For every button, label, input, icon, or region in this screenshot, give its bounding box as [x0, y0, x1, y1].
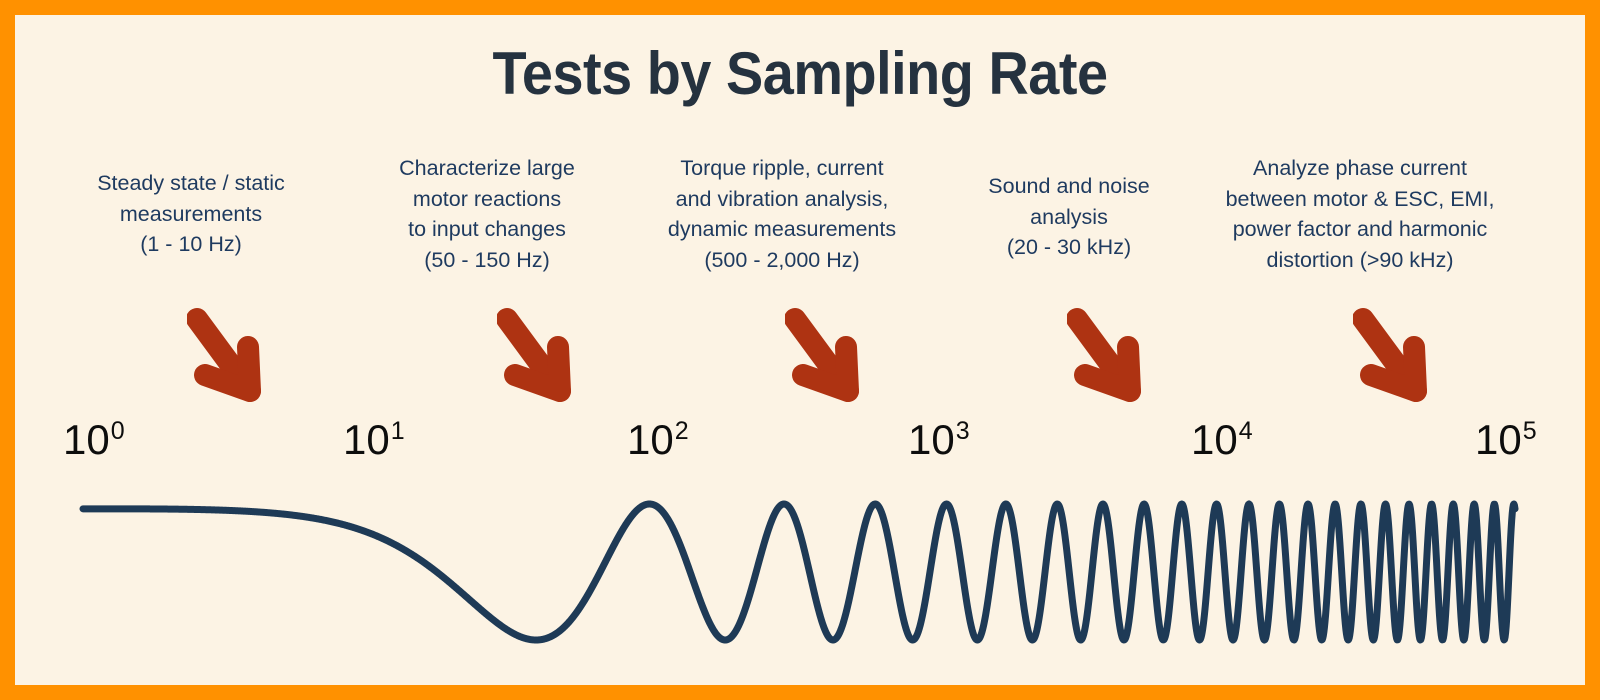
chirp-line [83, 504, 1515, 640]
caption-line: analysis [945, 202, 1193, 233]
tick-base: 10 [627, 416, 674, 463]
down-right-arrow-icon [1067, 307, 1151, 411]
down-right-arrow-icon [1353, 307, 1437, 411]
tick-base: 10 [1475, 416, 1522, 463]
caption-line: between motor & ESC, EMI, [1195, 184, 1525, 215]
annotation-caption-sound-noise: Sound and noise analysis (20 - 30 kHz) [945, 171, 1193, 263]
down-right-arrow-icon [187, 307, 271, 411]
axis-tick-10e1: 101 [343, 419, 405, 461]
tick-exponent: 5 [1523, 417, 1537, 445]
infographic-root: Tests by Sampling Rate Steady state / st… [0, 0, 1600, 700]
axis-tick-10e4: 104 [1191, 419, 1253, 461]
axis-tick-10e3: 103 [908, 419, 970, 461]
tick-exponent: 0 [111, 417, 125, 445]
axis-tick-10e5: 105 [1475, 419, 1537, 461]
annotation-caption-torque-ripple: Torque ripple, current and vibration ana… [637, 153, 927, 276]
tick-base: 10 [1191, 416, 1238, 463]
annotation-caption-phase-current: Analyze phase current between motor & ES… [1195, 153, 1525, 276]
down-right-arrow-icon [785, 307, 869, 411]
frequency-chirp-waveform [15, 470, 1585, 685]
axis-tick-10e2: 102 [627, 419, 689, 461]
caption-line: to input changes [353, 214, 621, 245]
caption-range-label: distortion (>90 kHz) [1195, 245, 1525, 276]
annotation-caption-motor-reactions: Characterize large motor reactions to in… [353, 153, 621, 276]
caption-line: Steady state / static [61, 168, 321, 199]
caption-line: Characterize large [353, 153, 621, 184]
caption-range-label: (1 - 10 Hz) [61, 229, 321, 260]
tick-base: 10 [343, 416, 390, 463]
axis-tick-10e0: 100 [63, 419, 125, 461]
caption-range-label: (500 - 2,000 Hz) [637, 245, 927, 276]
page-title: Tests by Sampling Rate [70, 39, 1530, 108]
tick-exponent: 1 [391, 417, 405, 445]
caption-line: Analyze phase current [1195, 153, 1525, 184]
caption-line: power factor and harmonic [1195, 214, 1525, 245]
caption-line: dynamic measurements [637, 214, 927, 245]
caption-line: measurements [61, 199, 321, 230]
annotation-caption-steady-state: Steady state / static measurements (1 - … [61, 168, 321, 260]
tick-base: 10 [63, 416, 110, 463]
caption-line: Sound and noise [945, 171, 1193, 202]
down-right-arrow-icon [497, 307, 581, 411]
caption-range-label: (50 - 150 Hz) [353, 245, 621, 276]
caption-line: Torque ripple, current [637, 153, 927, 184]
caption-line: motor reactions [353, 184, 621, 215]
caption-range-label: (20 - 30 kHz) [945, 232, 1193, 263]
tick-base: 10 [908, 416, 955, 463]
tick-exponent: 2 [675, 417, 689, 445]
tick-exponent: 3 [956, 417, 970, 445]
tick-exponent: 4 [1239, 417, 1253, 445]
infographic-canvas: Tests by Sampling Rate Steady state / st… [15, 15, 1585, 685]
caption-line: and vibration analysis, [637, 184, 927, 215]
